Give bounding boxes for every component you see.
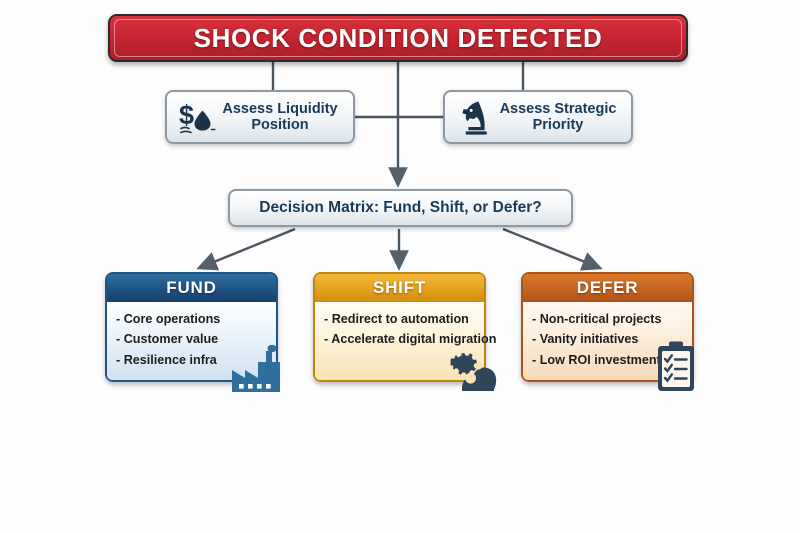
diagram-canvas: SHOCK CONDITION DETECTED $ Assess Liquid…: [0, 0, 800, 533]
svg-text:$: $: [179, 100, 194, 130]
defer-card-body: - Non-critical projects - Vanity initiat…: [523, 302, 692, 380]
wire-matrix-to-fund: [199, 229, 295, 268]
shift-bullet-1: - Redirect to automation: [324, 309, 478, 329]
defer-bullet-2: - Vanity initiatives: [532, 329, 686, 349]
defer-bullet-1: - Non-critical projects: [532, 309, 686, 329]
fund-card-title: FUND: [107, 274, 276, 302]
assess-strategic-line2: Priority: [533, 117, 584, 133]
assess-strategic-label: Assess Strategic Priority: [495, 101, 621, 133]
assess-liquidity-label: Assess Liquidity Position: [217, 101, 343, 133]
fund-bullet-1: - Core operations: [116, 309, 270, 329]
outcome-card-shift[interactable]: SHIFT - Redirect to automation - Acceler…: [313, 272, 486, 382]
fund-bullet-3: - Resilience infra: [116, 350, 270, 370]
outcome-card-defer[interactable]: DEFER - Non-critical projects - Vanity i…: [521, 272, 694, 382]
defer-card-title: DEFER: [523, 274, 692, 302]
assess-liquidity-line2: Position: [251, 117, 308, 133]
defer-bullet-3: - Low ROI investments: [532, 350, 686, 370]
connector-layer: [0, 0, 800, 533]
dollar-water-drop-icon: $: [177, 96, 217, 138]
shift-bullet-2: - Accelerate digital migration: [324, 329, 478, 349]
assess-strategic-line1: Assess Strategic: [500, 101, 617, 117]
shock-alert-banner: SHOCK CONDITION DETECTED: [108, 14, 688, 62]
outcome-card-fund[interactable]: FUND - Core operations - Customer value …: [105, 272, 278, 382]
decision-matrix-label: Decision Matrix: Fund, Shift, or Defer?: [259, 199, 541, 217]
banner-title: SHOCK CONDITION DETECTED: [194, 23, 603, 54]
wire-matrix-to-defer: [503, 229, 600, 268]
decision-matrix-box[interactable]: Decision Matrix: Fund, Shift, or Defer?: [228, 189, 573, 227]
fund-card-body: - Core operations - Customer value - Res…: [107, 302, 276, 380]
assess-liquidity-line1: Assess Liquidity: [222, 101, 337, 117]
fund-bullet-2: - Customer value: [116, 329, 270, 349]
assess-liquidity-box[interactable]: $ Assess Liquidity Position: [165, 90, 355, 144]
chess-knight-icon: [455, 96, 495, 138]
shift-card-title: SHIFT: [315, 274, 484, 302]
assess-strategic-box[interactable]: Assess Strategic Priority: [443, 90, 633, 144]
shift-card-body: - Redirect to automation - Accelerate di…: [315, 302, 484, 380]
